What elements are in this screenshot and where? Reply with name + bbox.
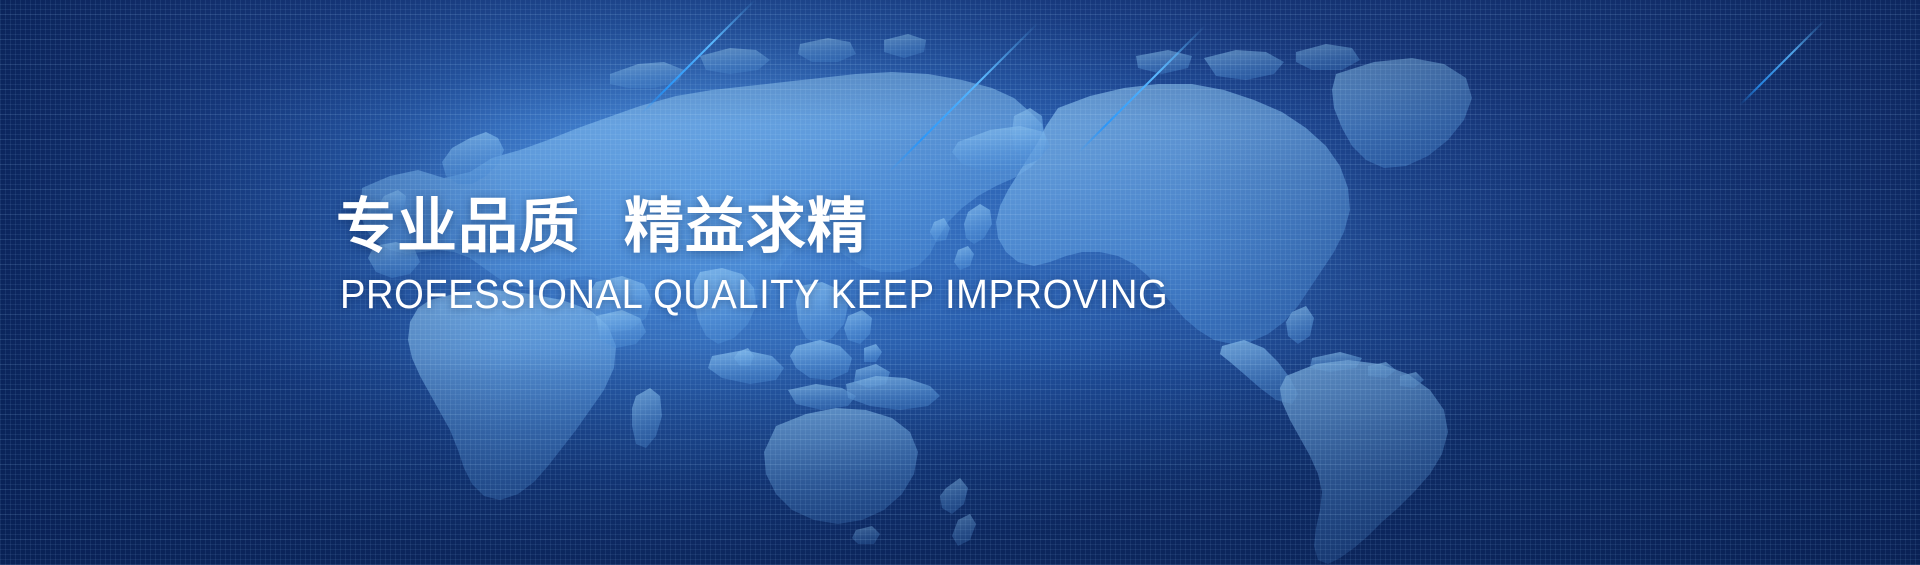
banner-subheadline-english: PROFESSIONAL QUALITY KEEP IMPROVING: [340, 272, 1168, 317]
hero-banner: 专业品质 精益求精 PROFESSIONAL QUALITY KEEP IMPR…: [0, 0, 1920, 565]
banner-copy-block: 专业品质 精益求精 PROFESSIONAL QUALITY KEEP IMPR…: [336, 196, 1231, 317]
banner-headline-chinese: 专业品质 精益求精: [336, 196, 1231, 260]
